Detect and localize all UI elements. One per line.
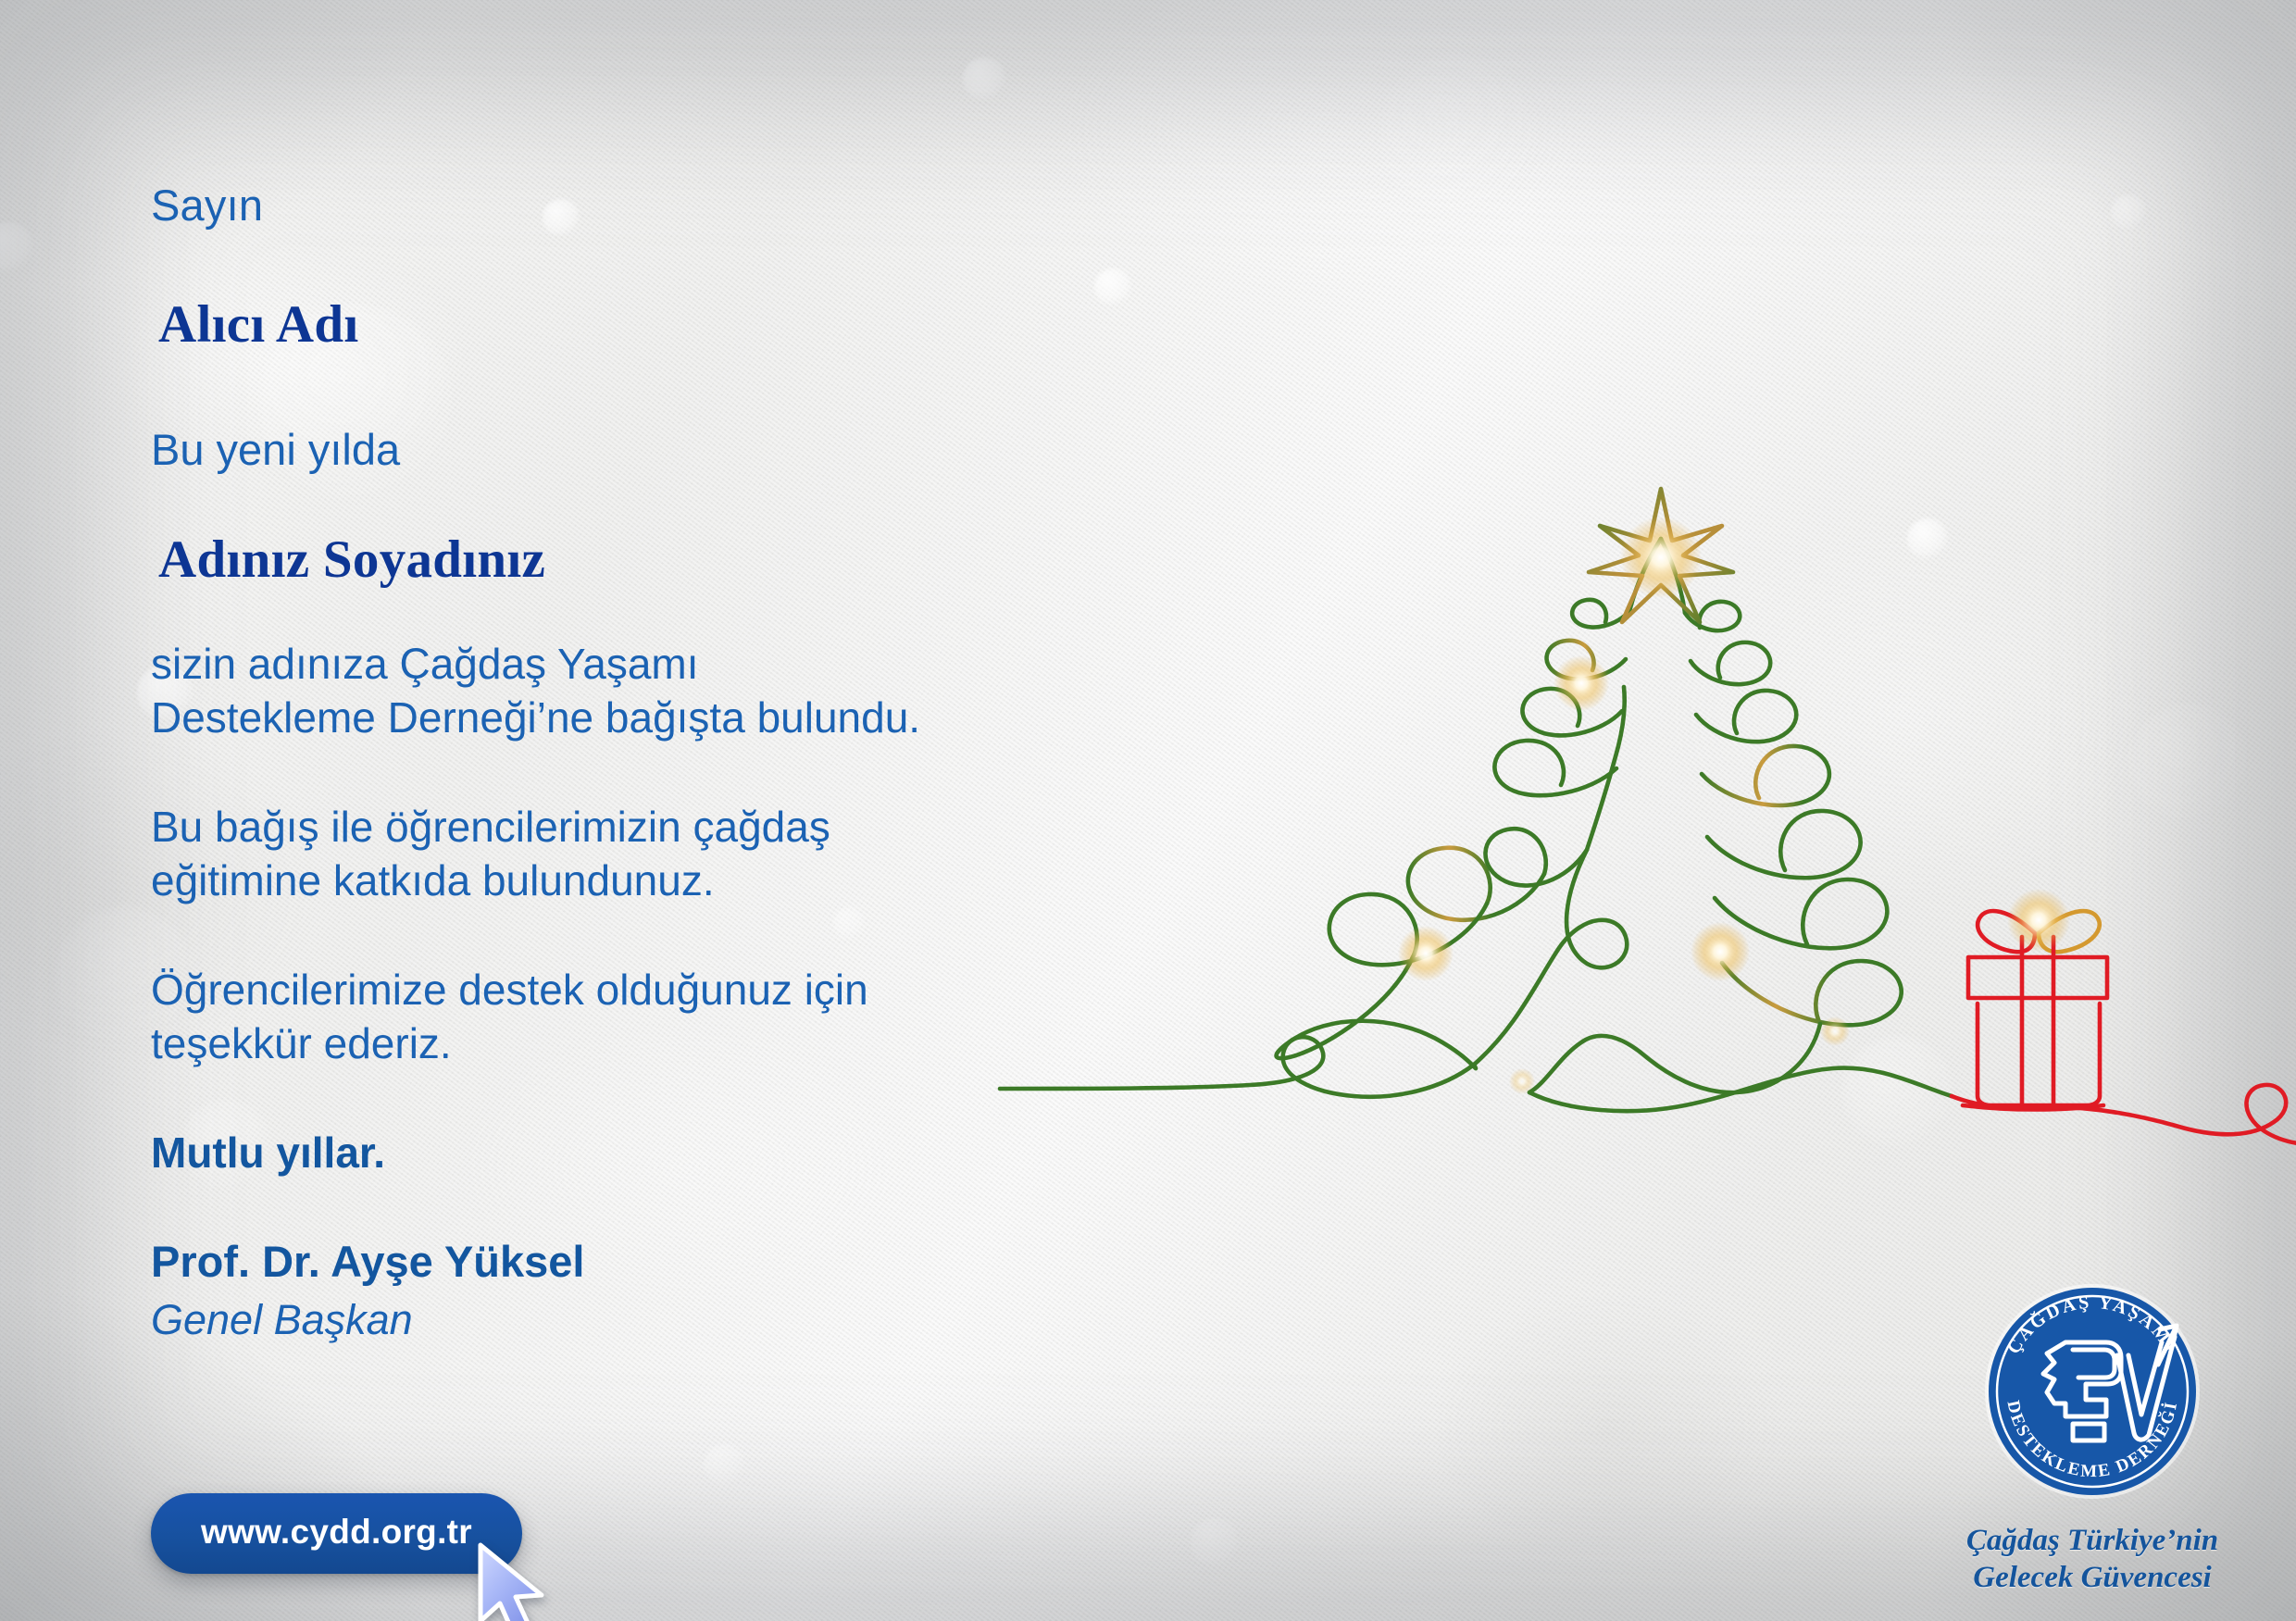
- tree-bottom-right-skirt: [1529, 1024, 1820, 1092]
- tree-branch-right-6: [1691, 642, 1770, 684]
- gift-body: [1978, 1004, 2100, 1105]
- salutation-text: Sayın: [151, 181, 1243, 230]
- donor-name: Adınız Soyadınız: [151, 531, 1243, 590]
- paragraph-education: Bu bağış ile öğrencilerimizin çağdaş eği…: [151, 801, 1243, 908]
- tree-branch-left-4: [1494, 741, 1616, 795]
- tree-branch-right-1: [1722, 961, 1902, 1025]
- tree-branch-left-1: [1485, 829, 1587, 885]
- website-url-button[interactable]: www.cydd.org.tr: [151, 1493, 522, 1574]
- ground-line-right: [1952, 1085, 2296, 1145]
- signer-role: Genel Başkan: [151, 1297, 1243, 1343]
- lead-in-text: Bu yeni yılda: [151, 426, 1243, 474]
- paragraph-thanks: Öğrencilerimize destek olduğunuz için te…: [151, 964, 1243, 1071]
- website-link-area: www.cydd.org.tr: [151, 1493, 522, 1574]
- paragraph-donation: sizin adınıza Çağdaş Yaşamı Destekleme D…: [151, 638, 1243, 745]
- mouse-pointer-icon: [473, 1541, 553, 1621]
- tree-branch-right-3: [1707, 811, 1861, 878]
- ground-line-mid: [1529, 1068, 1952, 1112]
- gift-ribbon-vertical: [2022, 937, 2053, 1105]
- recipient-name: Alıcı Adı: [151, 296, 1243, 355]
- tree-bottom-left-skirt: [1277, 957, 1477, 1068]
- gift-lid: [1968, 957, 2107, 998]
- tree-branch-right-5: [1696, 691, 1796, 742]
- letter-body: Sayın Alıcı Adı Bu yeni yılda Adınız Soy…: [151, 181, 1243, 1342]
- cydd-seal-logo: ÇAĞDAŞ YAŞAMI DESTEKLEME DERNEĞİ: [1977, 1276, 2208, 1507]
- organization-logo-block: ÇAĞDAŞ YAŞAMI DESTEKLEME DERNEĞİ Çağdaş …: [1944, 1276, 2240, 1597]
- christmas-artwork: [1148, 463, 2240, 1148]
- logo-tagline: Çağdaş Türkiye’nin Gelecek Güvencesi: [1944, 1522, 2240, 1597]
- signer-name: Prof. Dr. Ayşe Yüksel: [151, 1238, 1243, 1286]
- closing-text: Mutlu yıllar.: [151, 1129, 1243, 1177]
- tree-branch-right-4: [1702, 746, 1829, 805]
- greeting-card: Sayın Alıcı Adı Bu yeni yılda Adınız Soy…: [0, 0, 2296, 1621]
